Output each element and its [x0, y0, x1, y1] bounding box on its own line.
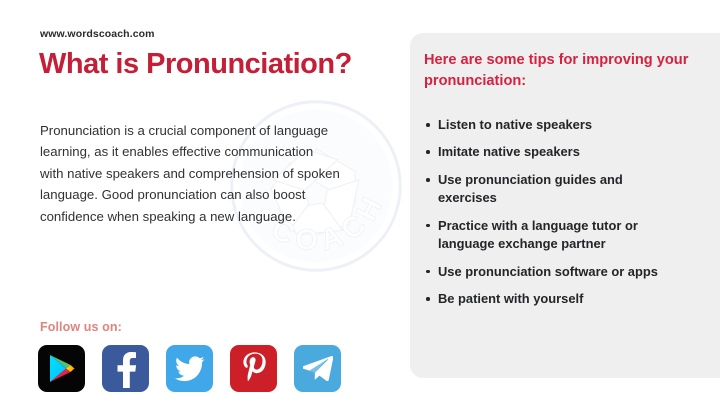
pinterest-icon[interactable] — [230, 345, 277, 392]
follow-us-label: Follow us on: — [40, 320, 122, 334]
tips-list: Listen to native speakers Imitate native… — [424, 116, 682, 318]
google-play-icon[interactable] — [38, 345, 85, 392]
page-title: What is Pronunciation? — [39, 48, 399, 80]
site-url: www.wordscoach.com — [40, 28, 155, 40]
definition-paragraph: Pronunciation is a crucial component of … — [40, 120, 340, 227]
telegram-icon[interactable] — [294, 345, 341, 392]
social-links — [38, 345, 341, 392]
tips-heading: Here are some tips for improving your pr… — [424, 50, 706, 91]
list-item: Be patient with yourself — [424, 290, 682, 308]
list-item: Use pronunciation guides and exercises — [424, 171, 682, 208]
twitter-icon[interactable] — [166, 345, 213, 392]
list-item: Practice with a language tutor or langua… — [424, 217, 682, 254]
list-item: Use pronunciation software or apps — [424, 263, 682, 281]
facebook-icon[interactable] — [102, 345, 149, 392]
list-item: Listen to native speakers — [424, 116, 682, 134]
list-item: Imitate native speakers — [424, 143, 682, 161]
poster-canvas: COACH www.wordscoach.com What is Pronunc… — [0, 0, 720, 404]
